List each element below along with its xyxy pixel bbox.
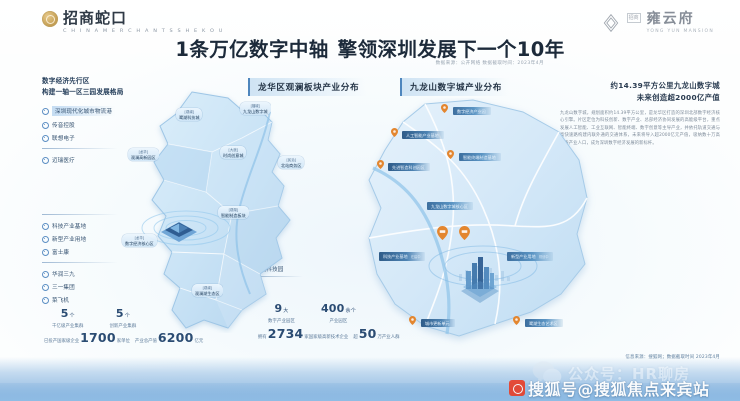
list-item-label: 迈瑞医疗 xyxy=(52,156,75,164)
list-item-label: 联想电子 xyxy=(52,134,75,142)
headline-subnote: 数据来源：公开网络 数据截取时间：2023年4月 xyxy=(436,60,544,66)
stat-caption: 产业园区 xyxy=(321,318,356,324)
stats-middle-line: 拥有 2734 家国家级高新技术企业 超 50 万产业人群 xyxy=(258,326,399,341)
source-note: 信息来源：搜狐网；数据截取时间 2023年4月 xyxy=(625,354,720,360)
stats-middle: 9大 数字产业园区 400余个 产业园区 xyxy=(268,303,356,324)
left-heading-line2: 构建一轴一区三园发展格局 xyxy=(42,87,130,98)
brand-logo-left: 招商蛇口 C H I N A M E R C H A N T S S H E K… xyxy=(42,10,224,34)
list-item-label: 三一集团 xyxy=(52,283,75,291)
right-headline: 约14.39平方公里九龙山数字城 未来创造超2000亿产值 xyxy=(611,80,720,104)
map-label[interactable]: 鹭湖生态艺术区 xyxy=(525,319,563,327)
map-label-sub: 在建中 xyxy=(411,255,421,259)
list-item[interactable]: 富士康 xyxy=(42,248,130,256)
stat-item: 5个 创新产业集群 xyxy=(109,308,136,329)
map-label-name: 科技产业基地 xyxy=(383,254,408,259)
list-item-label: 传音控股 xyxy=(52,121,75,129)
divider xyxy=(42,214,118,215)
stat-item: 9大 数字产业园区 xyxy=(268,303,295,324)
list-item[interactable]: 迈瑞医疗 xyxy=(42,156,130,164)
map-label-name: 鹭湖科技城 xyxy=(179,115,199,120)
stat-suffix: 万产业人群 xyxy=(378,334,400,340)
brand-left-cn: 招商蛇口 xyxy=(63,10,224,26)
map-label[interactable]: [龙华] 数字经济核心区 xyxy=(122,234,157,247)
map-label-name: 观澜湖生态区 xyxy=(195,291,220,296)
map-label[interactable]: 新型产业用地 规划中 xyxy=(507,252,553,261)
list-item-label: 新型产业用地 xyxy=(52,235,86,243)
map-pin-icon[interactable] xyxy=(447,150,454,159)
bullet-icon xyxy=(42,223,49,230)
stat-suffix: 家单位 xyxy=(117,338,130,344)
page-title: 1条万亿数字中轴擎领深圳发展下一个10年 xyxy=(0,33,740,62)
map-label[interactable]: 九龙山数字城核心区 xyxy=(427,202,473,210)
section-title-right: 九龙山数字城产业分布 xyxy=(400,78,509,96)
map-label[interactable]: [观湖] 智能制造板块 xyxy=(218,206,249,219)
bullet-icon xyxy=(42,249,49,256)
bullet-icon xyxy=(42,157,49,164)
stat-prefix: 拥有 xyxy=(258,334,267,340)
stat-suffix: 亿元 xyxy=(194,338,203,344)
divider xyxy=(42,262,118,263)
bullet-icon xyxy=(42,271,49,278)
stat-item: 400余个 产业园区 xyxy=(321,303,356,324)
map-pin-icon[interactable] xyxy=(441,104,448,113)
stat-number: 400余个 xyxy=(321,303,356,317)
left-group-3: 科技产业基地 新型产业用地 富士康 xyxy=(42,222,130,256)
map-pin-icon[interactable] xyxy=(459,226,470,240)
merchants-seal-icon xyxy=(42,11,58,27)
map-label-name: 观澜高新园区 xyxy=(131,155,156,160)
stats-left-line: 已投产国家级企业 1700 家单位 产业总产值 6200 亿元 xyxy=(44,330,203,345)
map-label[interactable]: 科技产业基地 在建中 xyxy=(379,252,425,261)
left-group-1: 深圳现代化城市物流港 传音控股 联想电子 xyxy=(42,106,130,142)
left-group-4: 华润三九 三一集团 菜飞机 xyxy=(42,270,130,304)
stat-value: 2734 xyxy=(268,326,304,341)
map-label-name: 北站商务区 xyxy=(281,163,301,168)
stat-number: 5个 xyxy=(109,308,136,322)
list-item-label: 科技产业基地 xyxy=(52,222,86,230)
list-item-label: 华润三九 xyxy=(52,270,75,278)
list-item-label: 深圳现代化城市物流港 xyxy=(52,106,115,116)
bullet-icon xyxy=(42,284,49,291)
left-heading-line1: 数字经济先行区 xyxy=(42,76,130,87)
bullet-icon xyxy=(42,135,49,142)
list-item[interactable]: 三一集团 xyxy=(42,283,130,291)
map-label[interactable]: [民治] 北站商务区 xyxy=(278,156,304,169)
left-heading: 数字经济先行区 构建一轴一区三园发展格局 xyxy=(42,76,130,97)
stat-prefix: 已投产国家级企业 xyxy=(44,338,79,344)
bullet-icon xyxy=(42,297,49,304)
left-group-2: 迈瑞医疗 xyxy=(42,156,130,164)
list-item-label: 富士康 xyxy=(52,248,69,256)
left-info-column: 数字经济先行区 构建一轴一区三园发展格局 深圳现代化城市物流港 传音控股 联想电… xyxy=(42,76,130,309)
stat-number: 9大 xyxy=(268,303,295,317)
map-label[interactable]: [龙华] 观澜高新园区 xyxy=(128,148,159,161)
brand-right-cn: 雍云府 xyxy=(647,12,714,27)
list-item[interactable]: 传音控股 xyxy=(42,121,130,129)
list-item[interactable]: 新型产业用地 xyxy=(42,235,130,243)
core-zone-glyph xyxy=(158,216,200,242)
map-pin-icon[interactable] xyxy=(391,128,398,137)
map-pin-icon[interactable] xyxy=(409,316,416,325)
sohu-badge-icon xyxy=(509,380,525,396)
stat-value: 1700 xyxy=(80,330,116,345)
diamond-logo-icon xyxy=(601,13,621,33)
poster-root: 招商蛇口 C H I N A M E R C H A N T S S H E K… xyxy=(0,0,740,401)
map-pin-icon[interactable] xyxy=(437,226,448,240)
stat-prefix: 产业总产值 xyxy=(135,338,157,344)
stat-value: 50 xyxy=(359,326,377,341)
bullet-icon xyxy=(42,236,49,243)
map-label[interactable]: [福城] 九龙山数字城 xyxy=(240,102,271,115)
longhua-district-map[interactable]: [龙华] 观澜高新园区 [观澜] 鹭湖科技城 [福城] 九龙山数字城 [大浪] … xyxy=(120,88,335,333)
bullet-icon xyxy=(42,122,49,129)
stat-caption: 创新产业集群 xyxy=(109,323,136,329)
stat-number: 5个 xyxy=(52,308,83,322)
stat-item: 5个 千亿级产业集群 xyxy=(52,308,83,329)
map-label-name: 时尚创意城 xyxy=(223,153,243,158)
right-headline-line2: 未来创造超2000亿产值 xyxy=(611,92,720,104)
stat-value: 6200 xyxy=(158,330,194,345)
map-label-name: 新型产业用地 xyxy=(511,254,536,259)
map-pin-icon[interactable] xyxy=(377,160,384,169)
sohu-watermark-text: 搜狐号@搜狐焦点来宾站 xyxy=(528,376,710,400)
map-label-name: 数字经济核心区 xyxy=(125,241,154,246)
map-label-name: 智能制造板块 xyxy=(221,213,246,218)
list-item[interactable]: 深圳现代化城市物流港 xyxy=(42,106,130,116)
list-item[interactable]: 菜飞机 xyxy=(42,296,130,304)
list-item[interactable]: 科技产业基地 xyxy=(42,222,130,230)
map-label[interactable]: 智能终端制造基地 xyxy=(459,153,501,161)
stat-caption: 千亿级产业集群 xyxy=(52,323,83,329)
list-item[interactable]: 联想电子 xyxy=(42,134,130,142)
bullet-icon xyxy=(42,108,49,115)
map-pin-icon[interactable] xyxy=(513,316,520,325)
stat-suffix: 家国家级高新技术企业 xyxy=(304,334,348,340)
right-headline-line1: 约14.39平方公里九龙山数字城 xyxy=(611,80,720,92)
list-item[interactable]: 华润三九 xyxy=(42,270,130,278)
map-label[interactable]: 城市更新单元 xyxy=(421,319,455,327)
map-label[interactable]: [观澜] 鹭湖科技城 xyxy=(176,108,202,121)
headline-part-1: 1条万亿数字中轴 xyxy=(175,38,328,61)
list-item-label: 菜飞机 xyxy=(52,296,69,304)
brand-right-badge: 招商 xyxy=(627,13,641,23)
map-label-name: 九龙山数字城 xyxy=(243,109,268,114)
stats-left: 5个 千亿级产业集群 5个 创新产业集群 xyxy=(52,308,136,329)
headline-part-2: 擎领深圳发展下一个10年 xyxy=(338,38,565,61)
map-label[interactable]: 人工智能产业基地 xyxy=(402,131,444,139)
map-label[interactable]: 数字经济产业园 xyxy=(453,107,491,115)
stat-prefix: 超 xyxy=(353,334,357,340)
map-label[interactable]: [观澜] 观澜湖生态区 xyxy=(192,284,223,297)
map-label-sub: 规划中 xyxy=(539,255,549,259)
map-label[interactable]: 先进智造科创园区 xyxy=(388,163,430,171)
jiulongshan-digital-city-map[interactable]: 数字经济产业园 人工智能产业基地 智能终端制造基地 先进智造科创园区 九龙山数字… xyxy=(355,98,605,348)
digital-city-core-glyph xyxy=(457,253,503,305)
stat-caption: 数字产业园区 xyxy=(268,318,295,324)
brand-logo-right: 招商 雍云府 YONG YUN MANSION xyxy=(601,12,714,34)
divider xyxy=(42,148,118,149)
map-label[interactable]: [大浪] 时尚创意城 xyxy=(220,146,246,159)
